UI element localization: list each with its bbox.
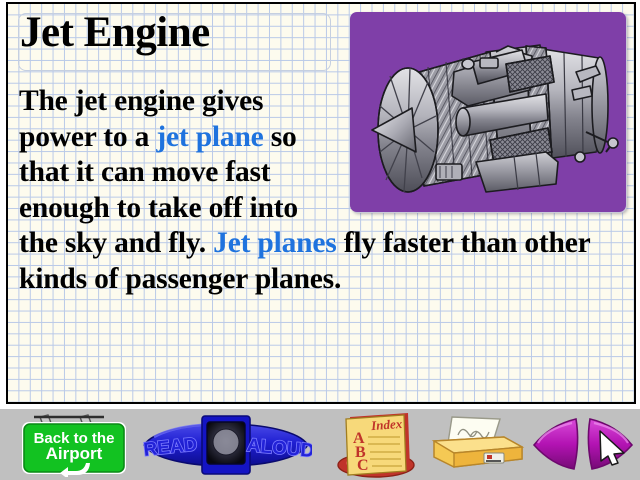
body-text: The jet engine gives power to a jet plan… <box>19 84 631 297</box>
content-page: Jet Engine The jet engine gives power to… <box>6 2 636 404</box>
previous-page-button[interactable] <box>530 415 582 473</box>
link-jet-plane[interactable]: jet plane <box>156 121 263 153</box>
read-aloud-icon: READ ALOUD <box>140 413 312 477</box>
previous-arrow-icon <box>530 415 582 473</box>
read-aloud-button[interactable]: READ ALOUD <box>140 413 312 477</box>
index-letter-c: C <box>357 457 369 474</box>
page-title: Jet Engine <box>20 6 210 60</box>
next-page-button[interactable] <box>584 415 636 473</box>
bottom-toolbar: Back to the Airport <box>0 409 640 480</box>
print-button[interactable] <box>426 415 526 475</box>
index-notepad-icon: Index A B C <box>332 411 420 479</box>
back-to-airport-sign-icon: Back to the Airport <box>18 413 128 477</box>
index-button[interactable]: Index A B C <box>332 411 420 479</box>
application-window: Jet Engine The jet engine gives power to… <box>0 0 640 480</box>
text-wrap-spacer <box>334 84 631 218</box>
printer-icon <box>426 415 526 475</box>
next-arrow-icon <box>584 415 636 473</box>
back-to-airport-button[interactable]: Back to the Airport <box>18 413 128 477</box>
link-jet-planes[interactable]: Jet planes <box>213 227 336 259</box>
back-to-airport-line2: Airport <box>46 444 103 463</box>
index-label: Index <box>370 416 404 433</box>
